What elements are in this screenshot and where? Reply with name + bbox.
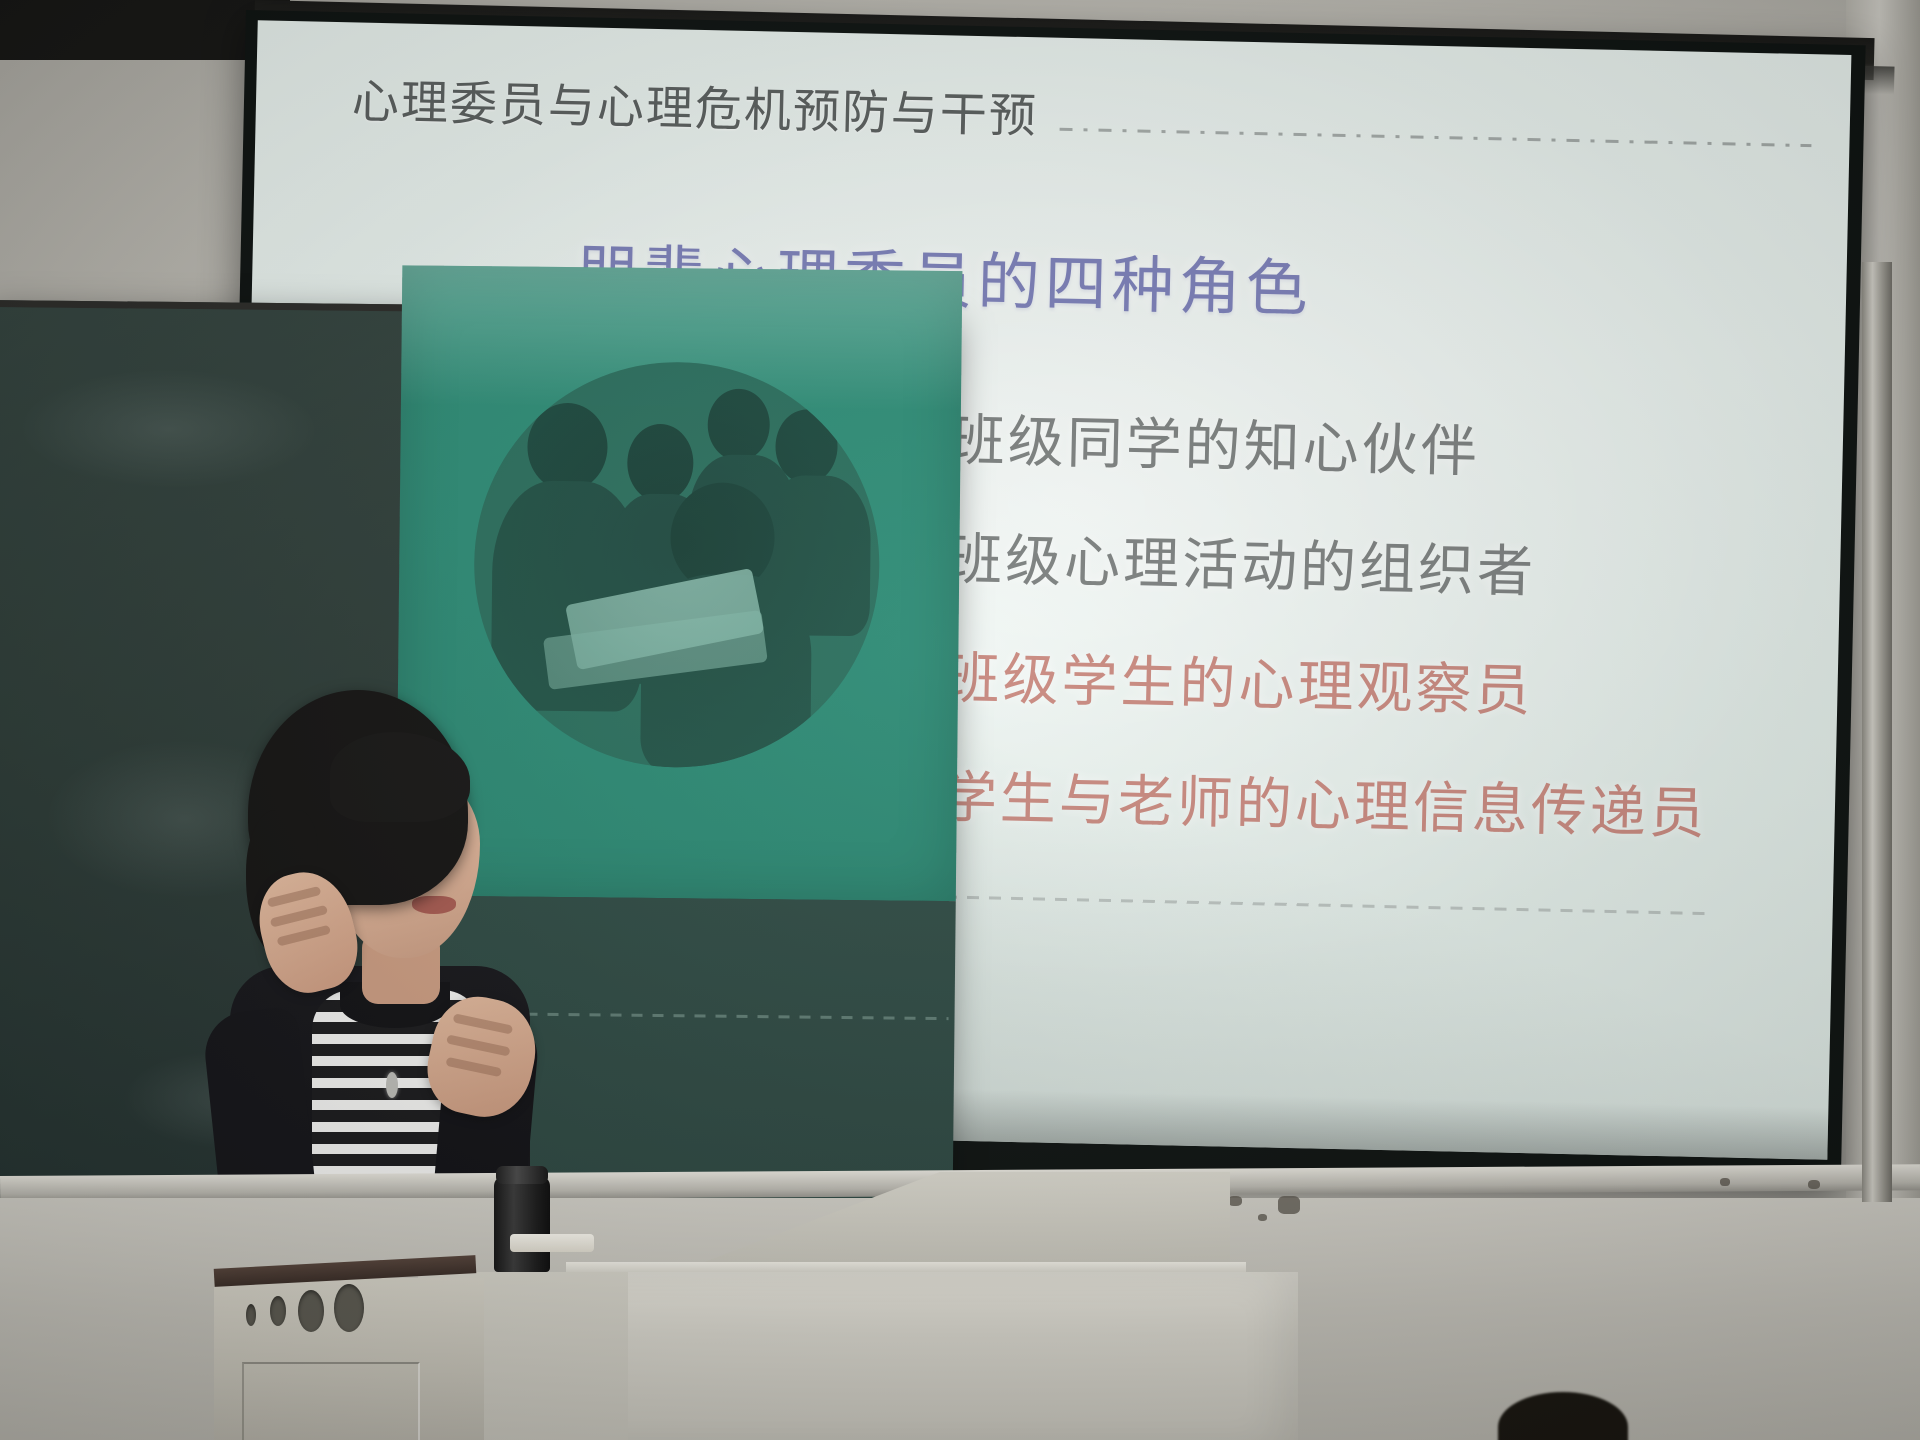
slide-header-rule [1060, 128, 1812, 147]
slide-bullet-list: 班级同学的知心伙伴 班级心理活动的组织者 班级学生的心理观察员 学生与老师的心理… [880, 394, 1716, 850]
classroom-scene: 心理委员与心理危机预防与干预 朋辈心理委员的四种角色 班级同学的知心伙伴 班级心… [0, 0, 1920, 1440]
slide-bullet-text: 班级心理活动的组织者 [945, 514, 1537, 608]
slide-bullet-item: 班级同学的知心伙伴 [888, 394, 1717, 493]
wall-mark [1808, 1180, 1820, 1189]
wall-mark [1720, 1178, 1730, 1186]
slide-bullet-item: 学生与老师的心理信息传递员 [880, 751, 1709, 850]
chalk-stick [510, 1234, 594, 1252]
vent-hole-icon [246, 1304, 256, 1326]
slide-header: 心理委员与心理危机预防与干预 [351, 62, 1812, 163]
slide-bullet-text: 班级学生的心理观察员 [943, 633, 1535, 727]
metal-pole [1862, 262, 1892, 1202]
slide-bullet-text: 学生与老师的心理信息传递员 [940, 752, 1709, 850]
slide-bullet-item: 班级心理活动的组织者 [885, 513, 1714, 612]
slide-bullet-text: 班级同学的知心伙伴 [948, 395, 1481, 488]
vent-hole-icon [270, 1296, 286, 1326]
lectern [440, 1172, 1320, 1440]
vent-hole-icon [334, 1284, 364, 1332]
slide-header-text: 心理委员与心理危机预防与干预 [351, 62, 1038, 146]
slide-bullet-item: 班级学生的心理观察员 [883, 632, 1712, 731]
vent-hole-icon [298, 1290, 324, 1332]
cabinet-panel [242, 1362, 420, 1440]
lectern-top-slope [570, 1172, 1230, 1268]
presenter-mouth [412, 896, 456, 914]
wall-cabinet [214, 1278, 484, 1440]
presenter-lapel-pin [386, 1072, 398, 1098]
